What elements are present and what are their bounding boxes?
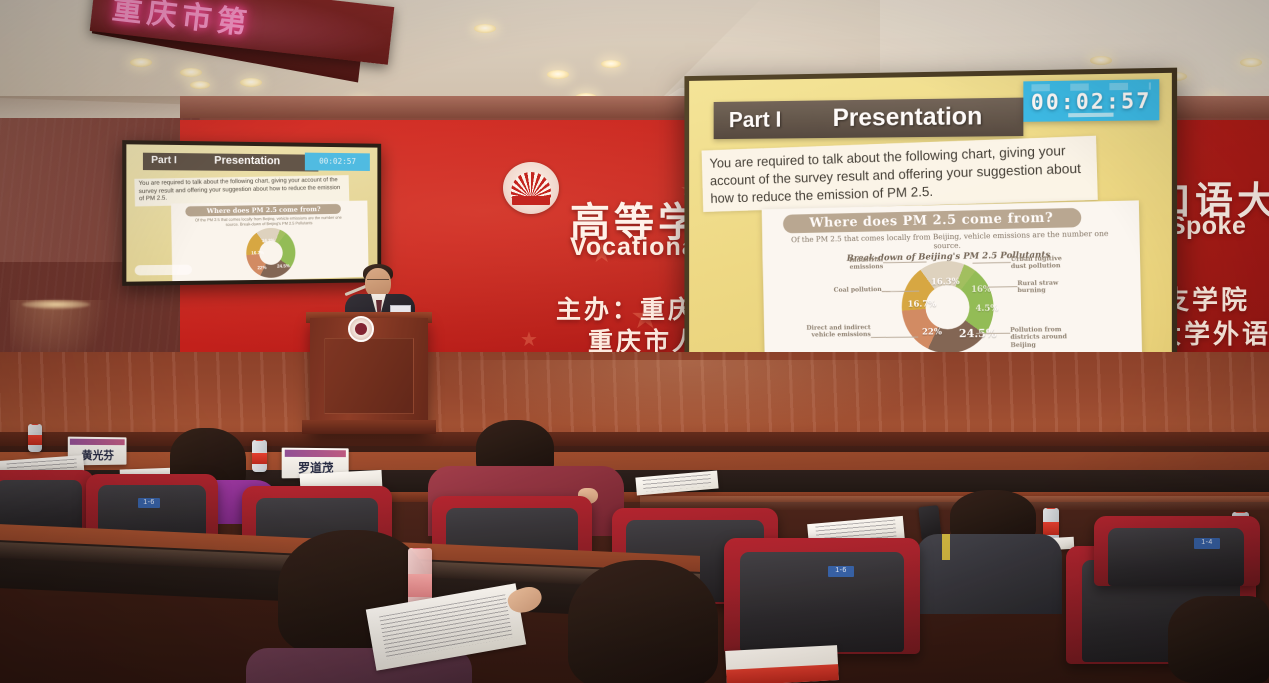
water-bottle	[28, 424, 42, 452]
bottle-cap	[412, 548, 427, 549]
nameplate-strip	[284, 450, 346, 457]
podium-emblem	[348, 316, 374, 342]
red-white-booklet	[725, 645, 839, 683]
chart-leader-line	[976, 333, 1010, 334]
slide-section-label: Presentation	[833, 102, 983, 133]
ceiling-downlight	[474, 24, 496, 33]
auditorium-seat: 1-4	[1094, 516, 1260, 586]
ceiling-downlight	[1240, 58, 1262, 67]
side-chart-subtitle: Of the PM 2.5 that comes locally from Be…	[190, 216, 347, 229]
pm25-chart-card: Where does PM 2.5 come from? Of the PM 2…	[762, 200, 1142, 358]
star-icon: ★	[520, 330, 538, 350]
timer-underline	[1068, 113, 1113, 118]
person-hair	[1168, 596, 1269, 683]
speaker-glasses	[367, 279, 389, 285]
organization-emblem	[503, 162, 559, 214]
timer-value: 00:02:57	[1023, 88, 1159, 114]
main-slide: Part I Presentation 00:02:57 You are req…	[689, 73, 1172, 381]
ceiling-downlight	[1090, 56, 1112, 65]
side-slice-percent-vehicle: 22%	[257, 265, 266, 270]
seat-number-tag: 1-6	[138, 498, 160, 508]
ceiling-downlight	[180, 68, 202, 77]
nameplate-strip	[70, 439, 124, 446]
emblem-rays	[511, 172, 551, 198]
chart-leader-line	[985, 286, 1017, 287]
document-text-lines	[642, 474, 712, 493]
ceiling-downlight	[601, 60, 621, 68]
slice-percent-industrial: 16.3%	[931, 277, 960, 287]
chart-label-districts: Pollution from districts around Beijing	[1010, 326, 1084, 349]
chart-leader-line	[883, 261, 926, 263]
slide-prompt-text: You are required to talk about the follo…	[702, 136, 1098, 213]
ceiling-downlight	[190, 81, 210, 89]
slice-percent-straw: 4.5%	[975, 304, 998, 314]
chart-label-coal: Coal pollution	[806, 286, 882, 294]
chart-label-vehicle: Direct and indirect vehicle emissions	[785, 324, 871, 339]
side-slice-percent-districts: 24.5%	[277, 263, 290, 268]
chart-label-urban-dust: Urban fugitive dust pollution	[1011, 255, 1079, 271]
bottle-label	[408, 574, 432, 596]
seat-number-tag: 1-6	[828, 566, 854, 577]
ceiling-downlight	[130, 58, 152, 67]
slide-part-label: Part I	[729, 107, 782, 133]
chart-label-straw: Rural straw burning	[1017, 279, 1079, 295]
slice-percent-coal: 16.7%	[908, 299, 937, 309]
bottle-label	[28, 435, 42, 445]
side-slide-logo	[135, 265, 192, 276]
side-slice-percent-industrial: 16.3%	[262, 238, 275, 243]
slice-percent-vehicle: 22%	[922, 327, 942, 337]
countdown-timer: 00:02:57	[1023, 79, 1159, 122]
wall-light	[22, 300, 90, 309]
chart-label-industrial: Industrial emissions	[822, 256, 883, 272]
side-timer-value: 00:02:57	[305, 153, 370, 171]
side-slide-section-label: Presentation	[214, 155, 280, 168]
ceiling-downlight	[547, 70, 569, 79]
main-projection-screen: Part I Presentation 00:02:57 You are req…	[684, 68, 1177, 387]
seat-cushion	[1108, 528, 1244, 586]
person-torso	[916, 534, 1062, 614]
side-countdown-timer: 00:02:57	[305, 153, 370, 171]
side-chart-card: Where does PM 2.5 come from? Of the PM 2…	[171, 201, 369, 282]
bottle-cap	[31, 424, 40, 425]
seat-number-tag: 1-4	[1194, 538, 1220, 549]
person-hair	[568, 560, 718, 683]
ceiling-downlight	[240, 78, 262, 87]
bottle-cap	[1235, 512, 1246, 513]
emblem-bar	[512, 196, 550, 205]
audience-member	[906, 490, 1066, 610]
side-slide-part-label: Part I	[151, 155, 177, 166]
booklet-red-band	[726, 664, 839, 683]
chart-leader-line	[973, 262, 1011, 264]
side-slide: Part I Presentation 00:02:57 You are req…	[126, 144, 377, 281]
podium-front-panel	[324, 338, 414, 414]
side-slice-percent-coal: 16.7%	[251, 250, 264, 255]
person-lanyard	[942, 534, 950, 560]
podium-base	[302, 420, 436, 434]
conference-hall-photo: 重庆市第 ★ ★ ★ ★ 高等学校 Vocational Sk 口语大 (Spo…	[0, 0, 1269, 683]
audience-member-front	[1168, 596, 1269, 683]
side-monitor-screen: Part I Presentation 00:02:57 You are req…	[122, 140, 381, 286]
chart-leader-line	[871, 337, 918, 338]
seat-cushion	[740, 552, 904, 652]
document-text-lines	[379, 594, 512, 660]
